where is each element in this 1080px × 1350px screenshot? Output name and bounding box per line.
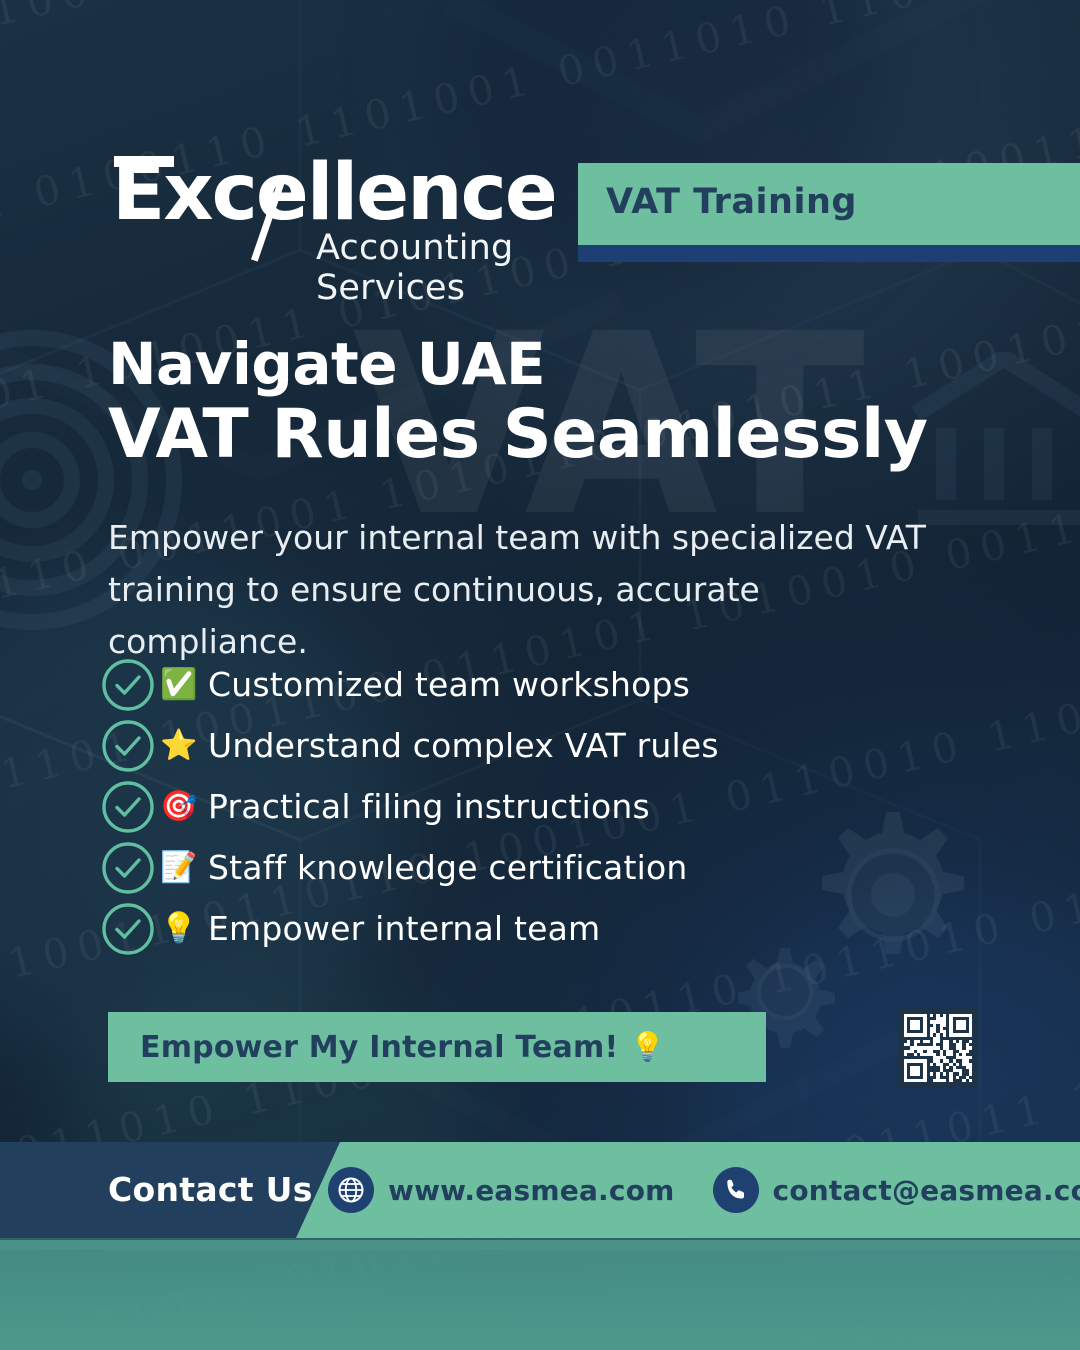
check-circle-icon <box>100 657 156 713</box>
bottom-overlay <box>0 1240 1080 1350</box>
logo-wordmark: Excellence <box>104 148 524 234</box>
poster-canvas: 0100110 1001011 0110100 1011001 0010110 … <box>0 0 1080 1350</box>
memo-emoji: 📝 <box>156 845 202 891</box>
contact-title: Contact Us <box>108 1170 313 1209</box>
list-item-label: Empower internal team <box>208 909 600 948</box>
target-emoji: 🎯 <box>156 784 202 830</box>
list-item-label: Understand complex VAT rules <box>208 726 719 765</box>
email-address: contact@easmea.com <box>773 1174 1080 1207</box>
light-bulb-emoji: 💡 <box>156 906 202 952</box>
list-item: ✅ Customized team workshops <box>100 654 719 715</box>
list-item-label: Staff knowledge certification <box>208 848 687 887</box>
check-circle-icon <box>100 779 156 835</box>
check-mark-button-emoji: ✅ <box>156 662 202 708</box>
check-circle-icon <box>100 718 156 774</box>
list-item-label: Practical filing instructions <box>208 787 650 826</box>
list-item: ⭐ Understand complex VAT rules <box>100 715 719 776</box>
check-circle-icon <box>100 901 156 957</box>
contact-email[interactable]: contact@easmea.com <box>713 1167 1080 1213</box>
qr-code-modules <box>904 1014 972 1082</box>
service-badge-underline <box>578 245 1080 262</box>
cta-button[interactable]: Empower My Internal Team! 💡 <box>108 1012 766 1082</box>
list-item: 💡 Empower internal team <box>100 898 719 959</box>
headline-line-2: VAT Rules Seamlessly <box>108 398 928 472</box>
bank-building-icon <box>908 352 1080 532</box>
brand-logo: Excellence Accounting Services <box>104 148 524 234</box>
list-item: 🎯 Practical filing instructions <box>100 776 719 837</box>
contact-website[interactable]: www.easmea.com <box>328 1167 675 1213</box>
list-item-label: Customized team workshops <box>208 665 690 704</box>
contact-items: www.easmea.com contact@easmea.com <box>328 1142 1080 1238</box>
service-badge-label: VAT Training <box>606 182 857 222</box>
check-circle-icon <box>100 840 156 896</box>
star-emoji: ⭐ <box>156 723 202 769</box>
website-url: www.easmea.com <box>388 1174 675 1207</box>
contact-bar: Contact Us www.easmea.com <box>0 1142 1080 1238</box>
globe-icon <box>328 1167 374 1213</box>
qr-code[interactable] <box>898 1008 978 1088</box>
service-badge: VAT Training <box>578 163 1080 245</box>
headline-line-1: Navigate UAE <box>108 333 545 395</box>
cta-button-label: Empower My Internal Team! <box>140 1030 618 1065</box>
logo-name: Excellence <box>112 152 556 234</box>
subheadline: Empower your internal team with speciali… <box>108 512 948 668</box>
phone-icon <box>713 1167 759 1213</box>
logo-tagline: Accounting Services <box>316 228 524 308</box>
benefits-list: ✅ Customized team workshops ⭐ Understand… <box>100 654 719 959</box>
light-bulb-icon: 💡 <box>630 1033 665 1061</box>
list-item: 📝 Staff knowledge certification <box>100 837 719 898</box>
